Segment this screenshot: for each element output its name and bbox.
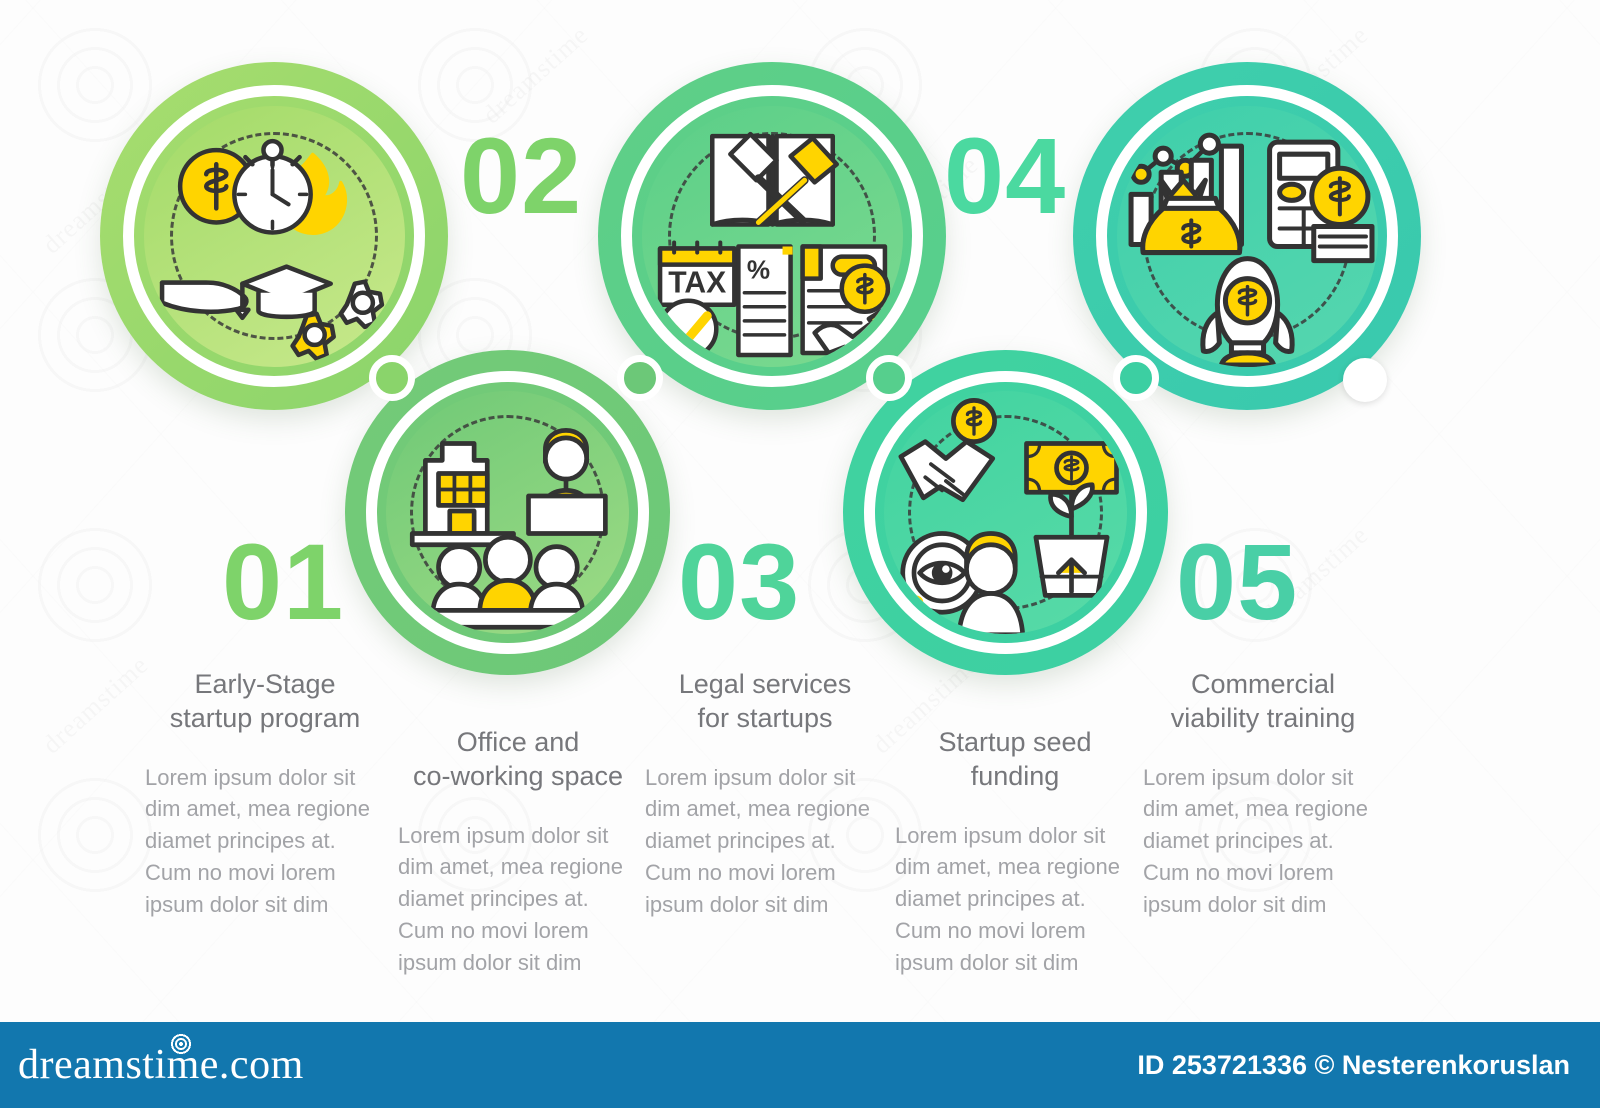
step-number-4: 05	[1176, 528, 1298, 636]
step-1-icon-group	[144, 106, 405, 367]
spiral-icon	[170, 1033, 192, 1055]
connector-dot-end	[1343, 358, 1387, 402]
infographic-canvas: dreamstime dreamstime dreamstime dreamst…	[0, 0, 1600, 1108]
step-5-icon-group	[1117, 106, 1378, 367]
footer-bar: dreamstime.com ID 253721336 © Nesterenko…	[0, 1022, 1600, 1108]
step-text-2: Office and co-working space Lorem ipsum …	[398, 726, 638, 979]
step-text-4: Startup seed funding Lorem ipsum dolor s…	[895, 726, 1135, 979]
step-text-1: Early-Stage startup program Lorem ipsum …	[145, 668, 385, 921]
step-body-1: Lorem ipsum dolor sit dim amet, mea regi…	[145, 762, 385, 921]
watermark-text: dreamstime	[37, 650, 155, 760]
step-number-1: 02	[460, 122, 582, 230]
step-body-2: Lorem ipsum dolor sit dim amet, mea regi…	[398, 820, 638, 979]
step-title-3: Legal services for startups	[645, 668, 885, 736]
step-number-2: 01	[222, 528, 344, 636]
step-number-3: 03	[678, 528, 800, 636]
step-title-5: Commercial viability training	[1143, 668, 1383, 736]
step-2-icon-group	[386, 391, 630, 635]
step-2-icon-disc	[386, 391, 630, 635]
step-5-icon-disc	[1117, 106, 1378, 367]
image-credit: ID 253721336 © Nesterenkoruslan	[1137, 1050, 1570, 1081]
step-body-3: Lorem ipsum dolor sit dim amet, mea regi…	[645, 762, 885, 921]
step-3-icon-group: TAX %	[642, 106, 903, 367]
step-text-5: Commercial viability training Lorem ipsu…	[1143, 668, 1383, 921]
step-body-4: Lorem ipsum dolor sit dim amet, mea regi…	[895, 820, 1135, 979]
watermark-text: dreamstime	[477, 20, 595, 130]
step-body-5: Lorem ipsum dolor sit dim amet, mea regi…	[1143, 762, 1383, 921]
svg-text:TAX: TAX	[668, 266, 726, 299]
connector-dot-4-5	[1113, 355, 1159, 401]
step-text-3: Legal services for startups Lorem ipsum …	[645, 668, 885, 921]
step-title-1: Early-Stage startup program	[145, 668, 385, 736]
step-title-4: Startup seed funding	[895, 726, 1135, 794]
dreamstime-logo: dreamstime.com	[18, 1041, 304, 1089]
connector-dot-2-3	[617, 355, 663, 401]
watermark-spiral-icon	[20, 510, 170, 660]
step-4-icon-disc	[884, 391, 1128, 635]
step-title-2: Office and co-working space	[398, 726, 638, 794]
step-4-icon-group	[884, 391, 1128, 635]
step-number-5: 04	[944, 122, 1066, 230]
step-3-icon-disc: TAX %	[642, 106, 903, 367]
brand-text: dreamstime.com	[18, 1042, 304, 1088]
connector-dot-3-4	[866, 355, 912, 401]
connector-dot-1-2	[369, 355, 415, 401]
svg-text:%: %	[746, 254, 769, 284]
step-1-icon-disc	[144, 106, 405, 367]
